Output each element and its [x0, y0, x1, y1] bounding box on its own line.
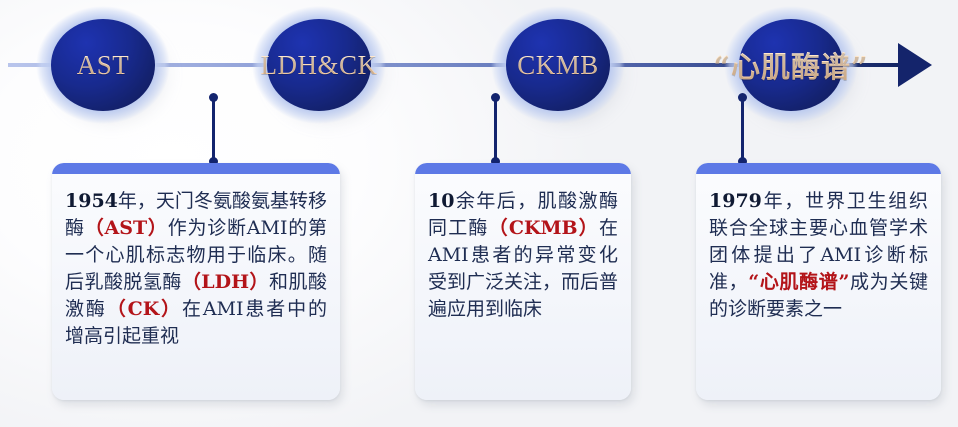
- timeline-node-label: LDH&CK: [261, 50, 378, 81]
- connector-stem: [494, 97, 497, 162]
- arrow-right-icon: [898, 43, 932, 87]
- connector-stem: [741, 97, 744, 162]
- connector-stem: [212, 97, 215, 162]
- connector-ast: [209, 93, 218, 166]
- timeline-card-panel[interactable]: 1979年，世界卫生组织联合全球主要心血管学术团体提出了AMI诊断标准，“心肌酶…: [696, 163, 941, 400]
- timeline-card-ast[interactable]: 1954年，天门冬氨酸氨基转移酶（AST）作为诊断AMI的第一个心肌标志物用于临…: [52, 163, 340, 400]
- card-body-text: 1954年，天门冬氨酸氨基转移酶（AST）作为诊断AMI的第一个心肌标志物用于临…: [52, 174, 340, 362]
- connector-panel: [738, 93, 747, 166]
- connector-ckmb: [491, 93, 500, 166]
- card-header-bar: [696, 163, 941, 174]
- timeline-diagram: AST LDH&CK CKMB “心肌酶谱”: [0, 0, 958, 427]
- timeline-node-label: CKMB: [517, 50, 599, 81]
- timeline-card-ckmb[interactable]: 10余年后，肌酸激酶同工酶（CKMB）在AMI患者的异常变化受到广泛关注，而后普…: [415, 163, 631, 400]
- timeline-node-ldhck[interactable]: LDH&CK: [252, 6, 386, 124]
- card-body-text: 1979年，世界卫生组织联合全球主要心血管学术团体提出了AMI诊断标准，“心肌酶…: [696, 174, 941, 335]
- timeline-node-label: “心肌酶谱”: [713, 44, 868, 86]
- timeline-node-label: AST: [77, 50, 130, 81]
- timeline-node-ast[interactable]: AST: [36, 6, 170, 124]
- card-header-bar: [52, 163, 340, 174]
- timeline-node-ckmb[interactable]: CKMB: [491, 6, 625, 124]
- card-body-text: 10余年后，肌酸激酶同工酶（CKMB）在AMI患者的异常变化受到广泛关注，而后普…: [415, 174, 631, 335]
- card-header-bar: [415, 163, 631, 174]
